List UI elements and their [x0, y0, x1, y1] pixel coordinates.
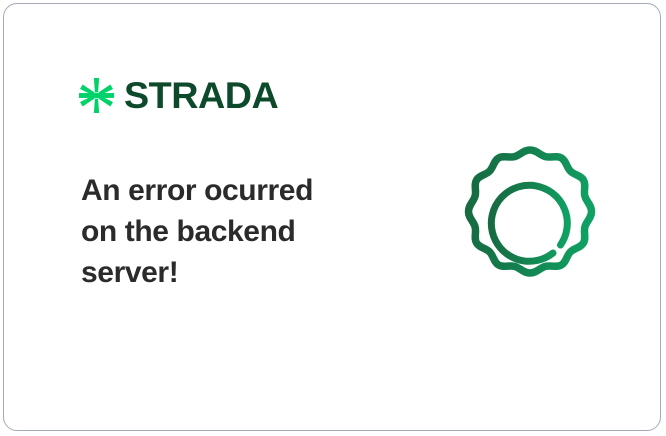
- error-headline: An error ocurred on the backend server!: [81, 170, 381, 293]
- gear-cog-icon: [450, 144, 610, 304]
- strada-asterisk-icon: [79, 78, 114, 113]
- brand-wordmark: STRADA: [124, 77, 278, 114]
- error-screen: STRADA An error ocurred on the backend s…: [0, 0, 666, 436]
- brand-logo: STRADA: [79, 74, 275, 116]
- error-card: STRADA An error ocurred on the backend s…: [3, 3, 661, 431]
- gear-illustration: [450, 144, 610, 304]
